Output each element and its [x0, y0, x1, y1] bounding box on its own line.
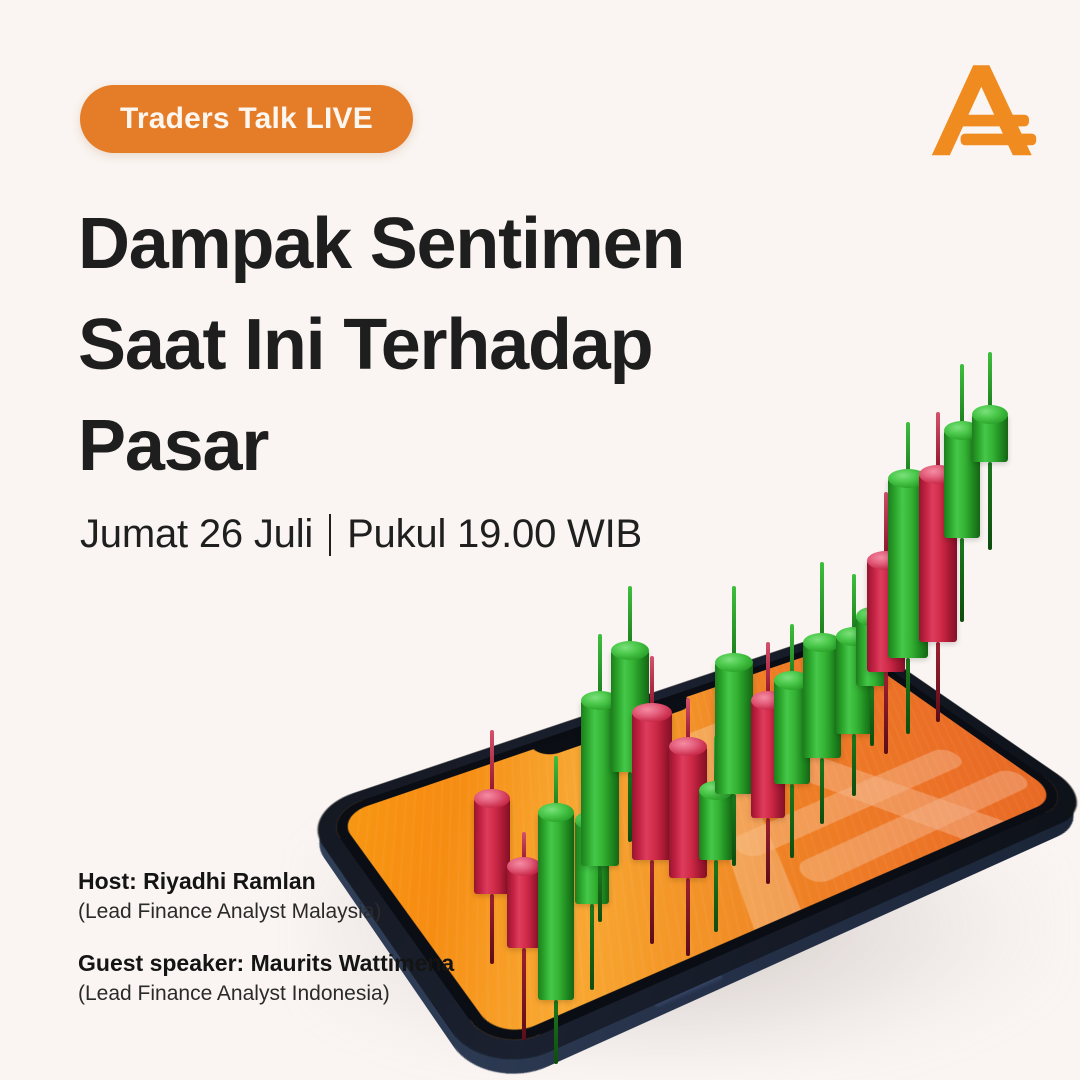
candle-body	[944, 430, 980, 538]
candle-body	[751, 700, 785, 818]
candle-lower-wick	[590, 904, 594, 990]
candle-upper-wick	[870, 558, 874, 616]
candle-body	[581, 700, 619, 866]
candle-lower-wick	[522, 948, 526, 1040]
candle-lower-wick	[554, 1000, 558, 1064]
candlestick-up	[774, 624, 810, 858]
candle-top-cap	[507, 857, 541, 876]
candlestick-up	[836, 574, 872, 796]
candle-top-cap	[774, 671, 810, 690]
live-badge-label: Traders Talk LIVE	[120, 102, 373, 136]
headline-line-3: Pasar	[78, 396, 798, 497]
candle-upper-wick	[790, 624, 794, 680]
candle-lower-wick	[686, 878, 690, 956]
candle-upper-wick	[628, 586, 632, 650]
candle-top-cap	[669, 737, 707, 756]
candle-top-cap	[575, 811, 609, 830]
candle-upper-wick	[490, 730, 494, 798]
candlestick-up	[581, 634, 619, 922]
candle-upper-wick	[988, 352, 992, 414]
candle-body	[856, 616, 888, 686]
candle-lower-wick	[988, 462, 992, 550]
candle-body	[538, 812, 574, 1000]
candle-lower-wick	[852, 734, 856, 796]
candle-top-cap	[972, 405, 1008, 424]
candlestick-down	[751, 642, 785, 884]
candle-top-cap	[751, 691, 785, 710]
candle-lower-wick	[960, 538, 964, 622]
candlestick-up	[715, 586, 753, 866]
candle-body	[632, 712, 672, 860]
candle-top-cap	[715, 653, 753, 672]
candle-lower-wick	[490, 894, 494, 964]
candle-body	[611, 650, 649, 772]
live-badge[interactable]: Traders Talk LIVE	[80, 85, 413, 153]
candle-body	[699, 790, 733, 860]
candlestick-up	[972, 352, 1008, 550]
candle-body	[836, 636, 872, 734]
candle-body	[774, 680, 810, 784]
screen-watermark-logo-icon	[560, 662, 1076, 969]
candlestick-up	[699, 736, 733, 932]
candle-lower-wick	[766, 818, 770, 884]
datetime-separator	[329, 514, 331, 556]
candlestick-up	[944, 364, 980, 622]
candle-upper-wick	[590, 758, 594, 820]
candle-upper-wick	[554, 756, 558, 812]
candle-top-cap	[474, 789, 510, 808]
candle-lower-wick	[820, 758, 824, 824]
candle-top-cap	[632, 703, 672, 722]
candle-body	[803, 642, 841, 758]
phone-notch	[528, 692, 696, 758]
candle-top-cap	[611, 641, 649, 660]
candle-lower-wick	[650, 860, 654, 944]
candle-upper-wick	[766, 642, 770, 700]
credit-guest: Guest speaker: Maurits Wattimena (Lead F…	[78, 948, 454, 1008]
candle-top-cap	[836, 627, 872, 646]
candle-body	[507, 866, 541, 948]
candlestick-up	[856, 558, 888, 746]
phone-volume-button	[651, 972, 725, 1010]
candle-top-cap	[581, 691, 619, 710]
host-name: Host: Riyadhi Ramlan	[78, 866, 454, 897]
candle-top-cap	[538, 803, 574, 822]
candle-upper-wick	[936, 412, 940, 474]
candlestick-up	[803, 562, 841, 824]
candle-upper-wick	[650, 656, 654, 712]
candle-body	[474, 798, 510, 894]
candle-upper-wick	[960, 364, 964, 430]
candle-lower-wick	[598, 866, 602, 922]
candlestick-up	[611, 586, 649, 842]
candle-upper-wick	[686, 698, 690, 746]
credit-host: Host: Riyadhi Ramlan (Lead Finance Analy…	[78, 866, 454, 926]
candlestick-up	[538, 756, 574, 1064]
event-date: Jumat 26 Juli	[80, 512, 313, 557]
candle-lower-wick	[628, 772, 632, 842]
candlestick-up	[888, 422, 928, 734]
candle-top-cap	[944, 421, 980, 440]
candle-lower-wick	[906, 658, 910, 734]
candlestick-down	[507, 832, 541, 1040]
candle-upper-wick	[906, 422, 910, 478]
candle-lower-wick	[790, 784, 794, 858]
guest-role: (Lead Finance Analyst Indonesia)	[78, 979, 454, 1008]
candlestick-down	[867, 492, 905, 754]
candlestick-down	[632, 656, 672, 944]
candlestick-down	[669, 698, 707, 956]
host-role: (Lead Finance Analyst Malaysia)	[78, 897, 454, 926]
candle-upper-wick	[714, 736, 718, 790]
candle-lower-wick	[732, 794, 736, 866]
promo-poster: Traders Talk LIVE Dampak Sentimen Saat I…	[0, 0, 1080, 1080]
candle-upper-wick	[598, 634, 602, 700]
candle-body	[575, 820, 609, 904]
speaker-credits: Host: Riyadhi Ramlan (Lead Finance Analy…	[78, 866, 454, 1031]
event-time: Pukul 19.00 WIB	[347, 512, 642, 557]
candle-lower-wick	[714, 860, 718, 932]
event-datetime: Jumat 26 Juli Pukul 19.00 WIB	[80, 512, 642, 557]
candle-top-cap	[867, 551, 905, 570]
candle-upper-wick	[820, 562, 824, 642]
octa-a-logo-icon	[930, 58, 1038, 166]
candle-top-cap	[919, 465, 957, 484]
candle-top-cap	[699, 781, 733, 800]
candle-lower-wick	[936, 642, 940, 722]
candle-upper-wick	[884, 492, 888, 560]
candle-upper-wick	[522, 832, 526, 866]
candle-top-cap	[856, 607, 888, 626]
candle-top-cap	[888, 469, 928, 488]
candlestick-up	[575, 758, 609, 990]
candle-lower-wick	[870, 686, 874, 746]
candle-top-cap	[803, 633, 841, 652]
candle-lower-wick	[884, 672, 888, 754]
candle-body	[867, 560, 905, 672]
guest-name: Guest speaker: Maurits Wattimena	[78, 948, 454, 979]
candlestick-down	[474, 730, 510, 964]
candle-body	[669, 746, 707, 878]
candle-body	[888, 478, 928, 658]
candle-body	[919, 474, 957, 642]
candlestick-down	[919, 412, 957, 722]
page-title: Dampak Sentimen Saat Ini Terhadap Pasar	[78, 194, 798, 496]
candle-body	[715, 662, 753, 794]
candle-upper-wick	[852, 574, 856, 636]
candle-body	[972, 414, 1008, 462]
headline-line-1: Dampak Sentimen	[78, 194, 798, 295]
candle-upper-wick	[732, 586, 736, 662]
headline-line-2: Saat Ini Terhadap	[78, 295, 798, 396]
